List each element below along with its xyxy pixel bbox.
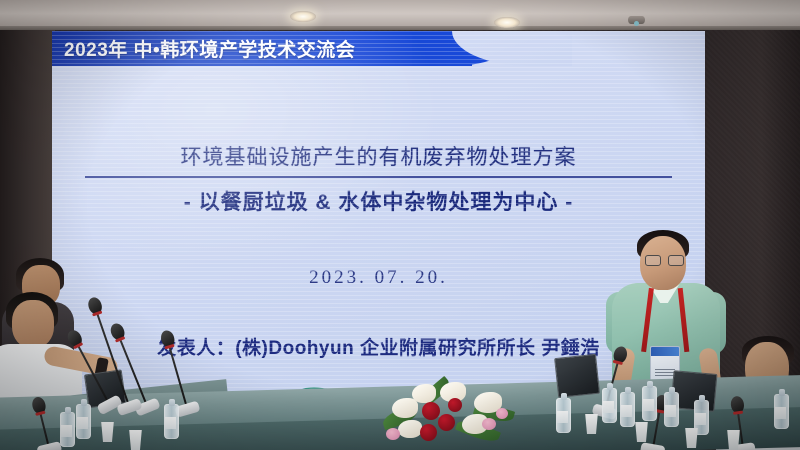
- slide-title-rule: [85, 176, 672, 178]
- downlight-icon: [494, 17, 520, 28]
- water-bottle: [60, 412, 75, 447]
- sprinkler-icon: [628, 16, 645, 24]
- water-bottle: [76, 404, 91, 439]
- slide-subtitle: - 以餐厨垃圾 & 水体中杂物处理为中心 -: [52, 186, 705, 216]
- water-bottle: [642, 386, 657, 421]
- water-bottle: [164, 404, 179, 439]
- water-bottle: [620, 392, 635, 427]
- water-bottle: [774, 394, 789, 429]
- slide-banner-text: 2023年 中•韩环境产学技术交流会: [64, 35, 355, 62]
- downlight-icon: [290, 11, 316, 22]
- flower-arrangement: [378, 380, 528, 450]
- water-bottle: [664, 392, 679, 427]
- screen-scanlines: [52, 31, 705, 426]
- attendee-left-front-head: [12, 300, 54, 348]
- slide-title: 环境基础设施产生的有机废弃物处理方案: [52, 141, 705, 171]
- water-bottle: [602, 388, 617, 423]
- presenter-glasses-icon: [645, 255, 682, 264]
- water-bottle: [556, 398, 571, 433]
- conference-room-photo: 2023年 中•韩环境产学技术交流会 环境基础设施产生的有机废弃物处理方案 - …: [0, 0, 800, 450]
- laptop: [554, 354, 598, 396]
- slide-date: 2023. 07. 20.: [52, 267, 705, 289]
- projection-screen: 2023年 中•韩环境产学技术交流会 环境基础设施产生的有机废弃物处理方案 - …: [52, 31, 705, 426]
